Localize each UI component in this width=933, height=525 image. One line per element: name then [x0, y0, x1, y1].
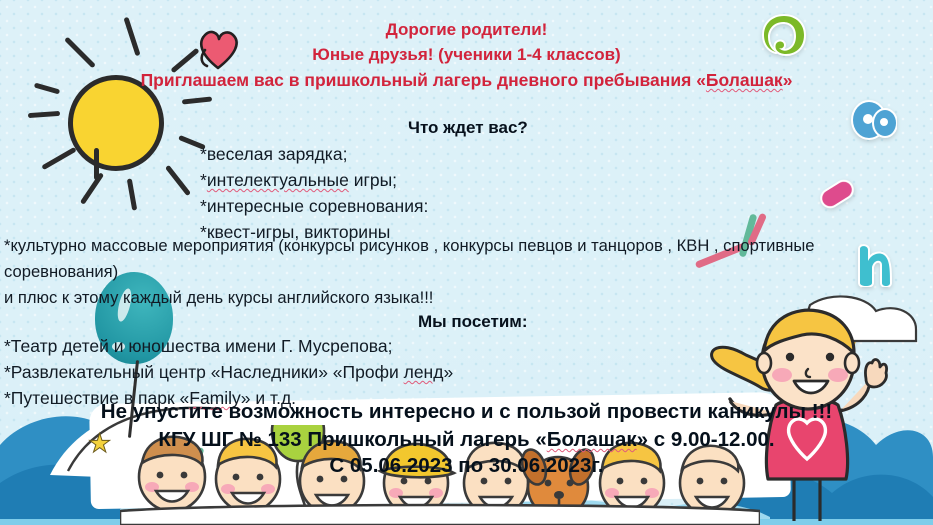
headline-bolashak-word: Болашак	[706, 70, 783, 90]
what-item-1-tail: игры;	[349, 170, 397, 190]
culture-paragraph-line-2: соревнования)	[4, 262, 118, 282]
heart-icon	[196, 28, 230, 60]
what-item-1: *интелектуальные игры;	[200, 170, 397, 191]
what-item-0-text: веселая зарядка;	[207, 144, 348, 164]
what-item-0: *веселая зарядка;	[200, 144, 347, 165]
visit-item-1-a: *Развлекательный центр «Наследники» «Про…	[4, 362, 404, 382]
headline-line-3-a: Приглашаем вас в пришкольный лагерь днев…	[141, 70, 706, 90]
footer-bolashak-word: Болашак	[547, 428, 637, 451]
footer-line-1: Не упустите возможность интересно и с по…	[101, 400, 832, 424]
culture-paragraph-line-3: и плюс к этому каждый день курсы английс…	[4, 288, 433, 308]
what-item-2: *интересные соревнования:	[200, 196, 428, 217]
bullet-star-0: *	[200, 144, 207, 164]
bullet-star-1: *	[200, 170, 207, 190]
visit-item-1: *Развлекательный центр «Наследники» «Про…	[4, 362, 453, 383]
footer-line-3: С 05.06.2023 по 30.06.2023г.	[329, 454, 603, 478]
headline-line-1: Дорогие родители!	[386, 20, 548, 40]
visit-item-1-c: »	[443, 362, 453, 382]
visit-item-0: *Театр детей и юношества имени Г. Мусреп…	[4, 336, 393, 357]
what-item-1-text: интелектуальные	[207, 170, 349, 190]
bullet-star-2: *	[200, 196, 207, 216]
poster-canvas: ★	[0, 0, 933, 525]
letter-g-sticker	[762, 14, 806, 56]
headline-line-3-c: »	[783, 70, 793, 90]
star-icon: ★	[88, 428, 111, 459]
visit-item-1-lend: ленд	[404, 362, 444, 382]
footer-line-2-a: КГУ ШГ № 133 Пришкольный лагерь «	[158, 428, 546, 451]
letter-e-sticker	[851, 99, 897, 141]
we-will-visit-heading: Мы посетим:	[418, 312, 528, 332]
culture-paragraph-line-1: *культурно массовые мероприятия (конкурс…	[4, 236, 815, 256]
pink-pill-sticker	[815, 174, 860, 214]
what-item-2-text: интересные соревнования:	[207, 196, 429, 216]
footer-line-2: КГУ ШГ № 133 Пришкольный лагерь «Болашак…	[158, 428, 774, 452]
headline-line-2: Юные друзья! (ученики 1-4 классов)	[312, 45, 620, 65]
footer-line-2-c: » с 9.00-12.00.	[637, 428, 775, 451]
letter-n-sticker	[852, 243, 898, 287]
headline-line-3: Приглашаем вас в пришкольный лагерь днев…	[141, 70, 793, 91]
what-awaits-heading: Что ждет вас?	[408, 118, 528, 138]
